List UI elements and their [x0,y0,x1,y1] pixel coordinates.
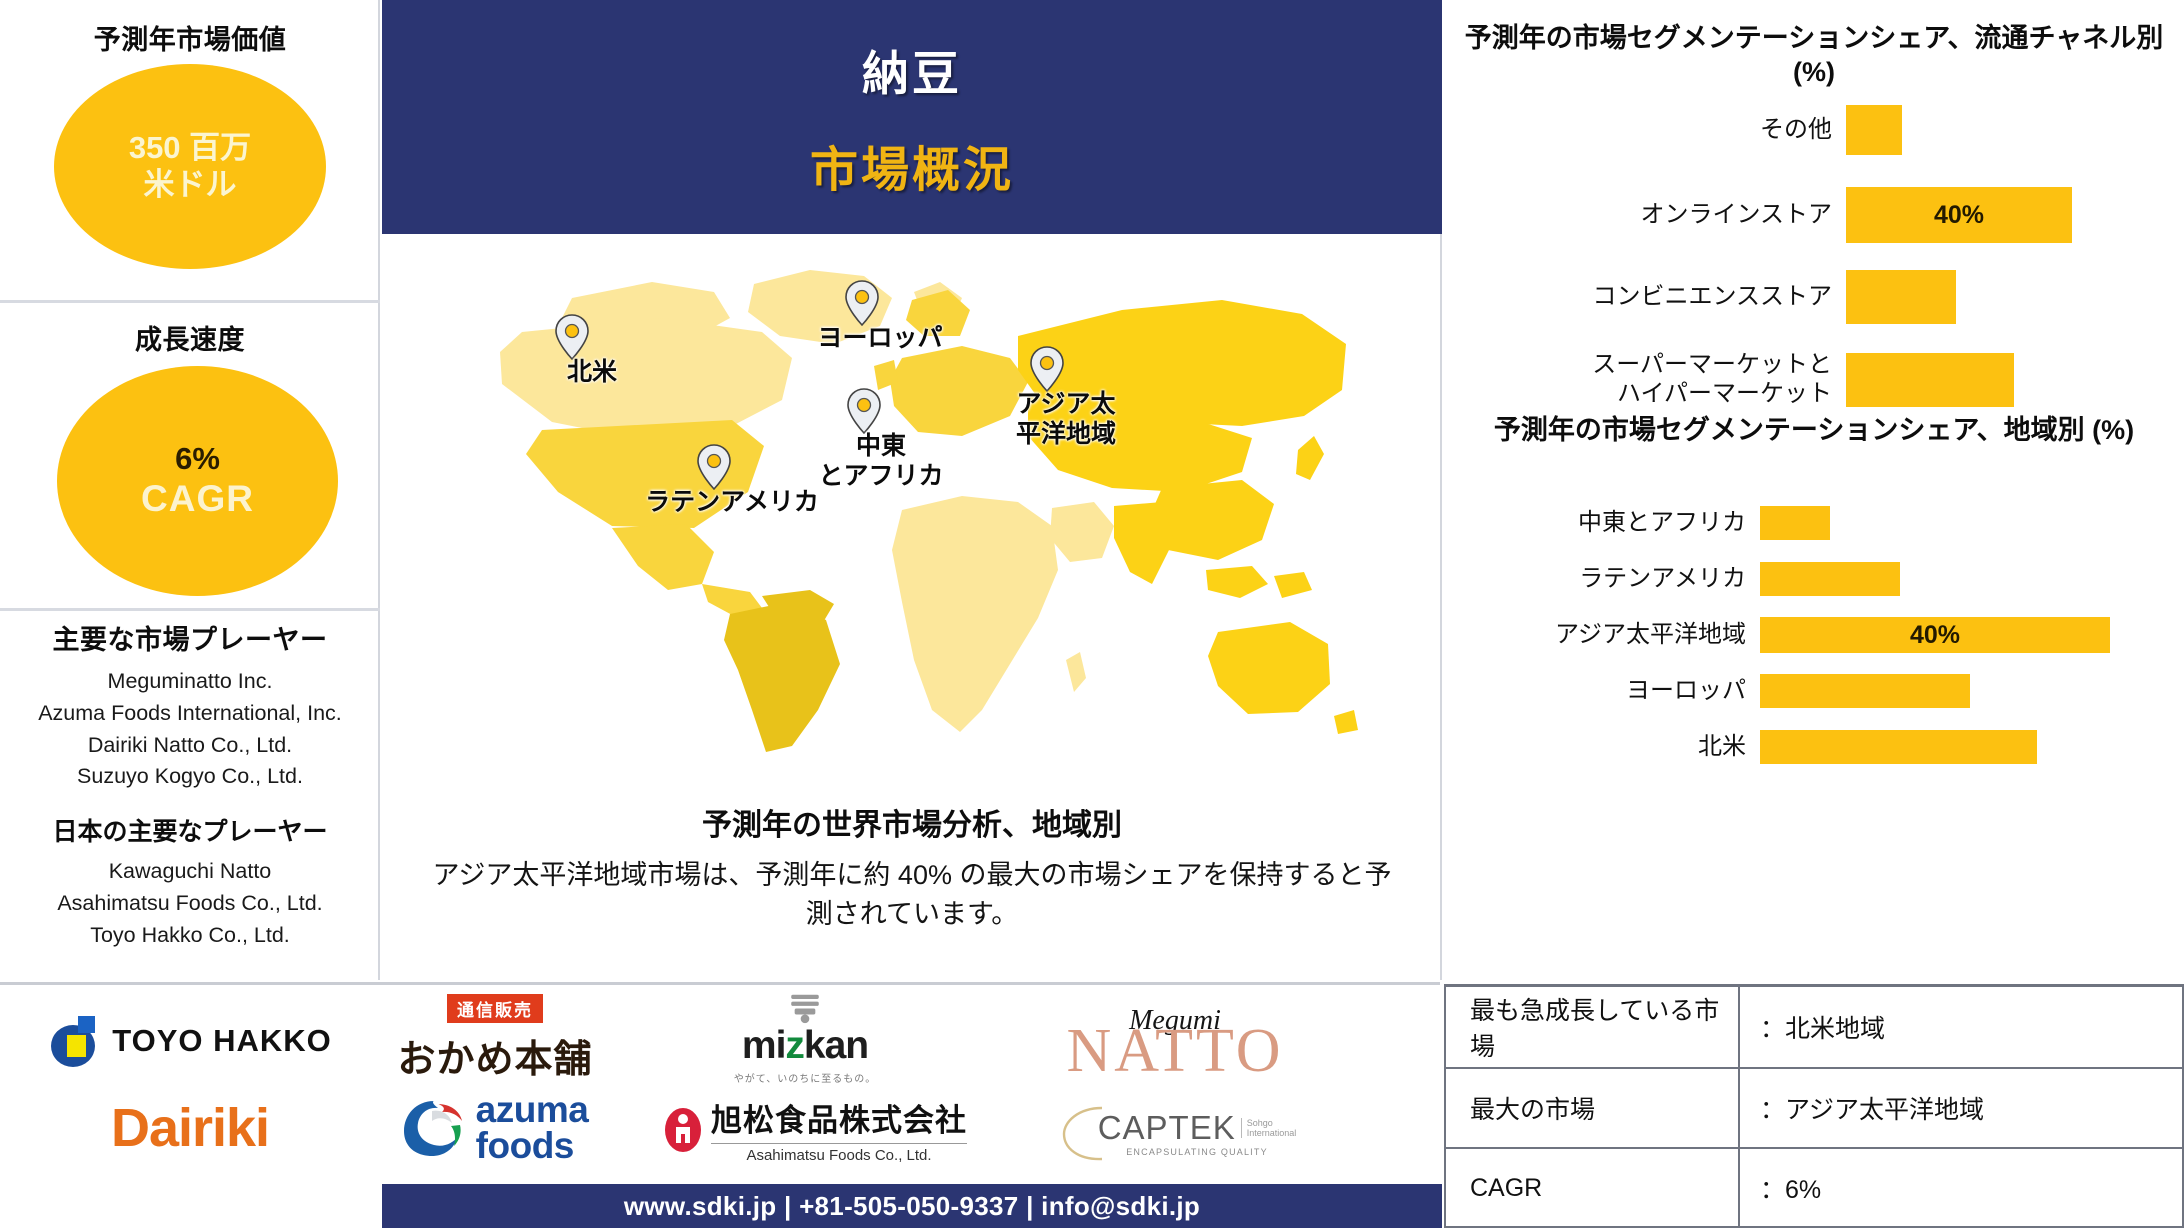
chart2-value-4 [1760,730,2037,764]
chart2-bar-0 [1760,506,1830,540]
market-value-line1: 350 百万 [129,130,251,167]
world-map-svg [462,240,1362,760]
chart1-bar-1: 40% [1846,187,2072,243]
chart1-bar-2 [1846,270,1956,324]
asahimatsu-mark-icon [663,1106,703,1152]
captek-side-label: Sohgo International [1241,1118,1297,1139]
chart2-label-3: ヨーロッパ [1444,677,1746,706]
logo-mizkan: mizkan やがて、いのちに至るもの。 [660,993,950,1085]
list-item: Kawaguchi Natto [0,856,380,888]
map-label-asia-pacific: アジア太 平洋地域 [982,390,1150,449]
captek-tagline: ENCAPSULATING QUALITY [1126,1147,1268,1157]
chart2-row-4: 北米 [1444,724,2184,770]
map-pin-europe [845,280,879,326]
key-players-title: 主要な市場プレーヤー [0,618,380,657]
chart1-row-2: コンビニエンスストア [1444,266,2184,328]
table-row: CAGR ：6% [1446,1147,2182,1227]
infographic-page: 予測年市場価値 350 百万 米ドル 成長速度 6% CAGR 主要な市場プレー… [0,0,2184,1228]
japan-players-list: Kawaguchi Natto Asahimatsu Foods Co., Lt… [0,856,380,951]
chart2-value-1 [1760,562,1900,596]
list-item: Asahimatsu Foods Co., Ltd. [0,888,380,920]
azuma-label-2: foods [476,1128,589,1164]
market-value-section: 予測年市場価値 350 百万 米ドル [0,18,380,288]
sidebar-divider-2 [0,608,380,611]
footer-contact-bar: www.sdki.jp | +81-505-050-9337 | info@sd… [382,1184,1442,1228]
map-label-middle-east-africa: 中東 とアフリカ [790,432,972,491]
map-pin-asia-pacific [1030,346,1064,392]
map-pin-middle-east-africa [847,388,881,434]
chart1-value-2 [1846,270,1956,324]
map-label-europe: ヨーロッパ [789,324,971,354]
dairiki-label: Dairiki [111,1097,269,1159]
footer-contact-text: www.sdki.jp | +81-505-050-9337 | info@sd… [624,1191,1200,1222]
okame-badge: 通信販売 [447,994,543,1023]
japan-players-section: 日本の主要なプレーヤー Kawaguchi Natto Asahimatsu F… [0,812,380,951]
key-players-section: 主要な市場プレーヤー Meguminatto Inc. Azuma Foods … [0,618,380,793]
chart2-label-0: 中東とアフリカ [1444,509,1746,538]
chart2-row-0: 中東とアフリカ [1444,500,2184,546]
chart2-bar-4 [1760,730,2037,764]
partner-logos-strip: TOYO HAKKO Dairiki 通信販売 おかめ本舗 azuma food… [0,982,1440,1178]
list-item: Meguminatto Inc. [0,666,380,698]
toyo-hakko-label: TOYO HAKKO [112,1023,332,1059]
chart1-value-3 [1846,353,2014,407]
chart2-bar-1 [1760,562,1900,596]
chart1-row-1: オンラインストア 40% [1444,182,2184,248]
growth-rate-value: 6% [175,441,220,478]
summary-table: 最も急成長している市場 ：北米地域 最大の市場 ：アジア太平洋地域 CAGR ：… [1444,984,2184,1228]
logo-captek: CAPTEK Sohgo International ENCAPSULATING… [1010,1097,1340,1169]
chart2-label-1: ラテンアメリカ [1444,565,1746,594]
chart2-bar-2: 40% [1760,617,2110,653]
world-map: 北米 ヨーロッパ アジア太 平洋地域 中東 とアフリカ ラテンアメリカ [382,236,1442,796]
growth-rate-section: 成長速度 6% CAGR [0,318,380,604]
growth-rate-title: 成長速度 [0,318,380,357]
left-sidebar: 予測年市場価値 350 百万 米ドル 成長速度 6% CAGR 主要な市場プレー… [0,0,380,980]
chart2-row-3: ヨーロッパ [1444,668,2184,714]
key-players-list: Meguminatto Inc. Azuma Foods Internation… [0,666,380,793]
mizkan-label: mizkan [742,1024,868,1068]
list-item: Dairiki Natto Co., Ltd. [0,730,380,762]
azuma-label-1: azuma [476,1092,589,1128]
natto-label: NATTO [1066,1027,1283,1077]
chart1-title: 予測年の市場セグメンテーションシェア、流通チャネル別 (%) [1462,22,2166,90]
table-value: ：北米地域 [1738,987,2182,1067]
map-caption-body: アジア太平洋地域市場は、予測年に約 40% の最大の市場シェアを保持すると予測さ… [422,856,1402,934]
chart2-row-1: ラテンアメリカ [1444,556,2184,602]
asahimatsu-sublabel: Asahimatsu Foods Co., Ltd. [711,1143,967,1164]
title-banner: 納豆 市場概況 [382,0,1442,234]
growth-rate-ellipse: 6% CAGR [57,366,338,596]
page-title: 納豆 [862,35,962,104]
logo-megumi-natto: Megumi NATTO [1010,991,1340,1091]
list-item: Toyo Hakko Co., Ltd. [0,920,380,952]
logo-dairiki: Dairiki [40,1091,340,1165]
chart2-value-2: 40% [1760,617,2110,653]
logo-azuma-foods: azuma foods [350,1089,640,1167]
japan-players-title: 日本の主要なプレーヤー [0,812,380,848]
chart1-bar-0 [1846,105,1902,155]
chart2-label-2: アジア太平洋地域 [1444,621,1746,650]
chart1-row-0: その他 [1444,100,2184,160]
right-charts-panel: 予測年の市場セグメンテーションシェア、流通チャネル別 (%) その他 オンライン… [1444,0,2184,980]
map-caption-title: 予測年の世界市場分析、地域別 [382,800,1442,844]
mizkan-mark-icon [784,993,826,1024]
market-value-ellipse: 350 百万 米ドル [54,64,326,269]
logo-asahimatsu: 旭松食品株式会社 Asahimatsu Foods Co., Ltd. [660,1089,970,1169]
chart2-label-4: 北米 [1444,733,1746,762]
mizkan-tagline: やがて、いのちに至るもの。 [734,1070,877,1085]
market-value-line2: 米ドル [144,167,237,204]
toyo-hakko-mark-icon [48,1012,106,1070]
market-value-title: 予測年市場価値 [0,18,380,57]
okame-label: おかめ本舗 [397,1028,592,1083]
chart2-title: 予測年の市場セグメンテーションシェア、地域別 (%) [1462,414,2166,448]
table-key: CAGR [1446,1174,1738,1203]
table-key: 最も急成長している市場 [1446,991,1738,1063]
asahimatsu-label: 旭松食品株式会社 [711,1095,967,1140]
chart2-bar-3 [1760,674,1970,708]
list-item: Azuma Foods International, Inc. [0,698,380,730]
chart2-value-3 [1760,674,1970,708]
table-value: ：アジア太平洋地域 [1738,1069,2182,1147]
table-row: 最大の市場 ：アジア太平洋地域 [1446,1067,2182,1147]
chart1-bar-3 [1846,353,2014,407]
sidebar-divider-1 [0,300,380,303]
logo-toyo-hakko: TOYO HAKKO [40,999,340,1083]
chart1-value-1: 40% [1846,187,2072,243]
table-value: ：6% [1738,1149,2182,1227]
chart1-label-0: その他 [1444,116,1832,145]
map-pin-north-america [555,314,589,360]
list-item: Suzuyo Kogyo Co., Ltd. [0,761,380,793]
chart1-value-0 [1846,105,1902,155]
center-panel: 納豆 市場概況 [382,0,1442,980]
chart1-row-3: スーパーマーケットと ハイパーマーケット [1444,344,2184,416]
growth-rate-unit: CAGR [141,477,254,521]
table-row: 最も急成長している市場 ：北米地域 [1446,987,2182,1067]
chart1-label-1: オンラインストア [1444,201,1832,230]
chart2-row-2: アジア太平洋地域 40% [1444,612,2184,658]
chart1-label-2: コンビニエンスストア [1444,283,1832,312]
map-label-north-america: 北米 [532,358,652,388]
azuma-swirl-icon [402,1097,466,1159]
map-pin-latin-america [697,444,731,490]
logo-okame-honpo: 通信販売 おかめ本舗 [350,993,640,1083]
map-label-latin-america: ラテンアメリカ [614,488,850,518]
page-subtitle: 市場概況 [810,130,1014,200]
captek-label: CAPTEK [1098,1109,1236,1147]
chart2-value-0 [1760,506,1830,540]
chart1-label-3: スーパーマーケットと ハイパーマーケット [1444,351,1832,409]
table-key: 最大の市場 [1446,1090,1738,1126]
